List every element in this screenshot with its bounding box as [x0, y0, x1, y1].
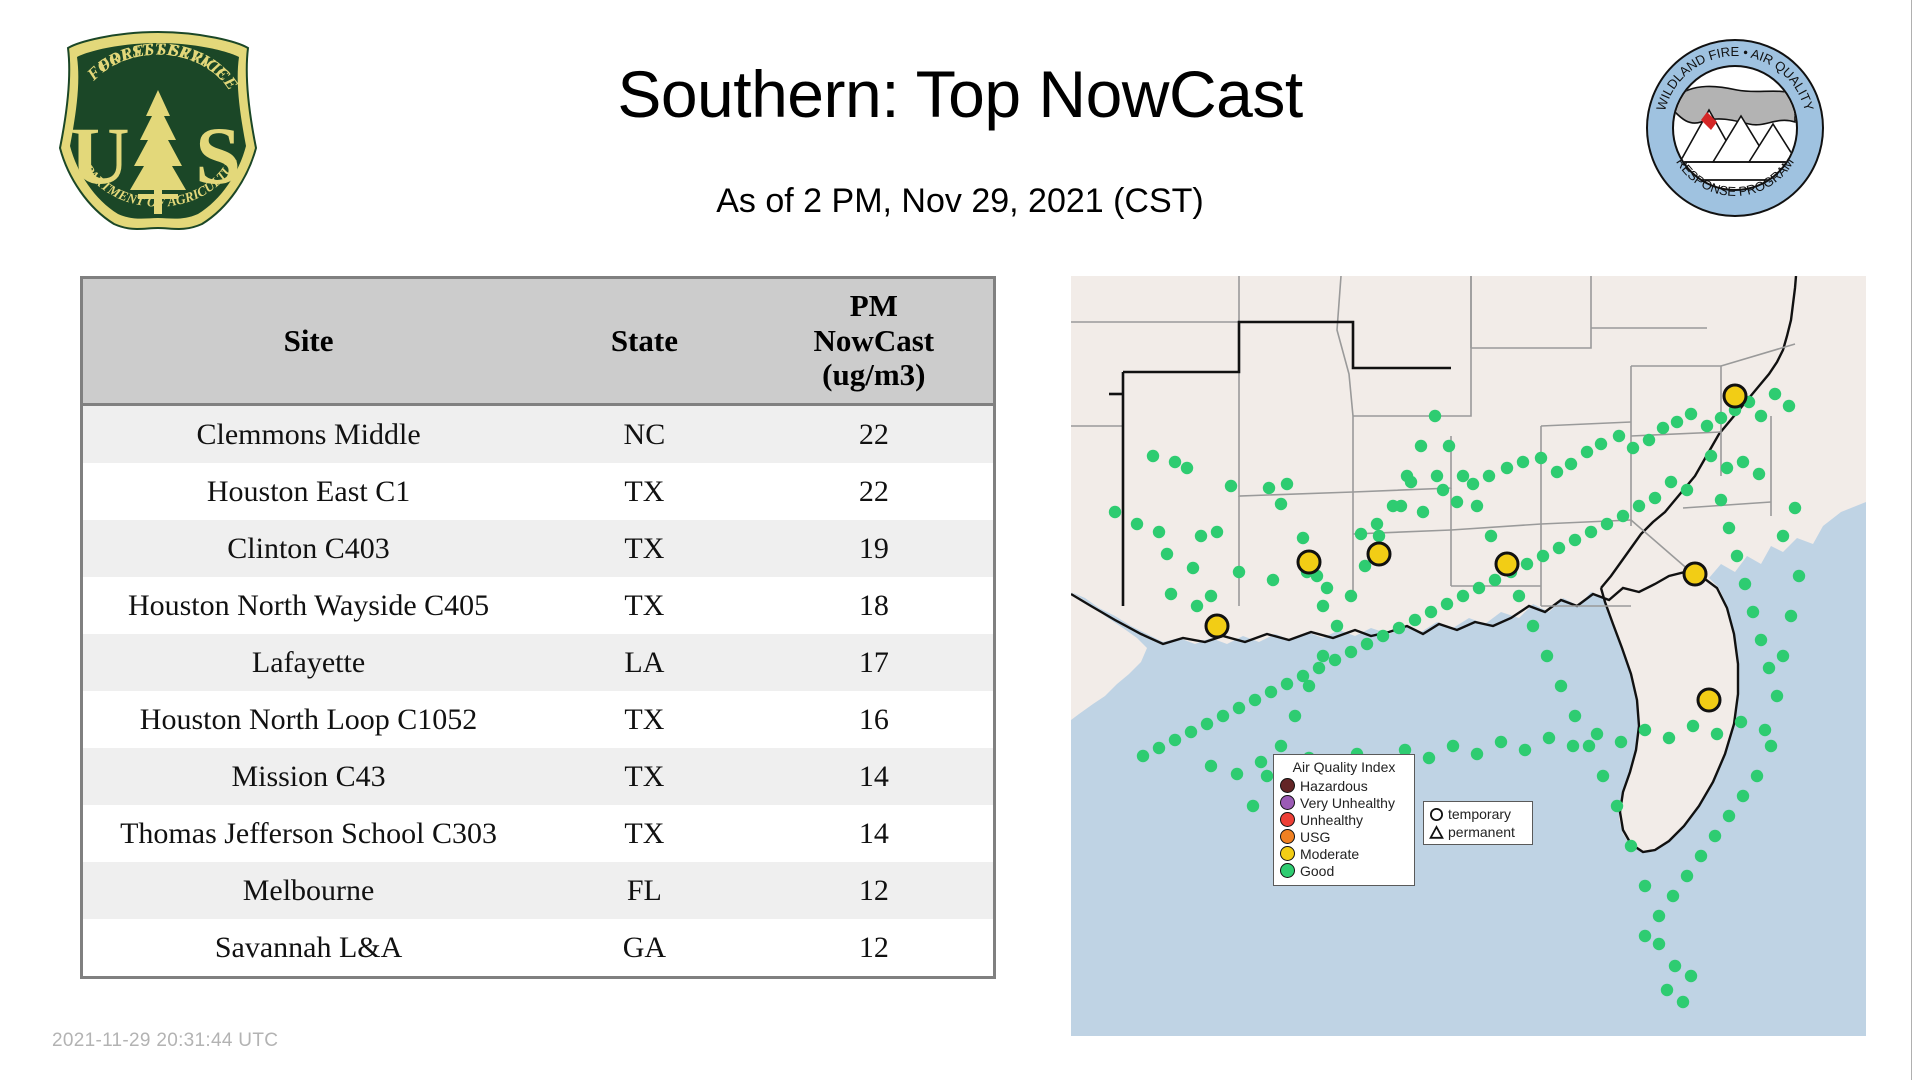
column-header-pm-line-1: PM — [759, 289, 989, 324]
monitor-dot-good[interactable] — [1789, 502, 1801, 514]
site-cell: Clinton C403 — [83, 520, 534, 577]
monitor-dot-good[interactable] — [1169, 456, 1181, 468]
monitor-dot-good[interactable] — [1231, 768, 1243, 780]
monitor-dot-good[interactable] — [1329, 654, 1341, 666]
monitor-dot-good[interactable] — [1613, 430, 1625, 442]
state-cell: LA — [534, 634, 755, 691]
monitor-dot-good[interactable] — [1513, 590, 1525, 602]
legend-air-quality-index: Air Quality Index HazardousVery Unhealth… — [1273, 754, 1415, 886]
column-header-pm-line-2: NowCast — [759, 324, 989, 359]
monitor-dot-good[interactable] — [1657, 422, 1669, 434]
legend-item-unhealthy: Unhealthy — [1280, 811, 1408, 828]
site-cell: Mission C43 — [83, 748, 534, 805]
monitor-dot-good[interactable] — [1667, 890, 1679, 902]
monitor-dot-good[interactable] — [1201, 718, 1213, 730]
monitor-dot-good[interactable] — [1425, 606, 1437, 618]
monitor-dot-good[interactable] — [1265, 686, 1277, 698]
table-row: Houston East C1TX22 — [83, 463, 993, 520]
monitor-dot-good[interactable] — [1715, 494, 1727, 506]
aqi-color-swatch-icon — [1280, 829, 1295, 844]
monitor-dot-good[interactable] — [1765, 740, 1777, 752]
monitor-dot-good[interactable] — [1137, 750, 1149, 762]
pm-nowcast-cell: 22 — [755, 405, 993, 464]
top-nowcast-table: Site State PM NowCast (ug/m3) Clemmons M… — [83, 279, 993, 976]
monitor-dot-good[interactable] — [1751, 770, 1763, 782]
monitor-dot-moderate[interactable] — [1368, 543, 1390, 565]
monitor-dot-good[interactable] — [1701, 420, 1713, 432]
pm-nowcast-cell: 17 — [755, 634, 993, 691]
table-body: Clemmons MiddleNC22Houston East C1TX22Cl… — [83, 405, 993, 977]
site-cell: Houston North Loop C1052 — [83, 691, 534, 748]
monitor-dot-good[interactable] — [1297, 532, 1309, 544]
site-cell: Lafayette — [83, 634, 534, 691]
monitor-dot-good[interactable] — [1643, 434, 1655, 446]
table-row: Houston North Loop C1052TX16 — [83, 691, 993, 748]
table-row: Thomas Jefferson School C303TX14 — [83, 805, 993, 862]
monitor-dot-good[interactable] — [1517, 456, 1529, 468]
monitor-dot-good[interactable] — [1665, 476, 1677, 488]
map-canvas — [1071, 276, 1866, 1036]
monitor-dot-good[interactable] — [1615, 736, 1627, 748]
usda-forest-service-logo: FOREST SERVICE FOREST SERVICE DEPARTMENT… — [52, 28, 264, 233]
monitor-dot-good[interactable] — [1443, 440, 1455, 452]
monitor-dot-good[interactable] — [1205, 590, 1217, 602]
legend-item-good: Good — [1280, 862, 1408, 879]
monitor-dot-good[interactable] — [1371, 518, 1383, 530]
monitor-dot-good[interactable] — [1313, 662, 1325, 674]
pm-nowcast-cell: 12 — [755, 862, 993, 919]
site-cell: Houston East C1 — [83, 463, 534, 520]
monitor-dot-good[interactable] — [1639, 880, 1651, 892]
table-row: LafayetteLA17 — [83, 634, 993, 691]
monitor-dot-good[interactable] — [1457, 470, 1469, 482]
aqi-color-swatch-icon — [1280, 846, 1295, 861]
monitor-dot-moderate[interactable] — [1684, 563, 1706, 585]
monitor-dot-good[interactable] — [1289, 710, 1301, 722]
legend-item-usg: USG — [1280, 828, 1408, 845]
monitor-dot-good[interactable] — [1153, 742, 1165, 754]
monitor-dot-good[interactable] — [1653, 910, 1665, 922]
monitor-dot-good[interactable] — [1541, 650, 1553, 662]
monitor-dot-good[interactable] — [1591, 728, 1603, 740]
monitor-dot-good[interactable] — [1755, 634, 1767, 646]
monitor-dot-good[interactable] — [1255, 756, 1267, 768]
monitor-dot-good[interactable] — [1669, 960, 1681, 972]
monitor-dot-good[interactable] — [1153, 526, 1165, 538]
monitor-dot-good[interactable] — [1401, 470, 1413, 482]
monitor-dot-good[interactable] — [1161, 548, 1173, 560]
monitor-dot-good[interactable] — [1345, 646, 1357, 658]
monitor-dot-good[interactable] — [1233, 566, 1245, 578]
monitor-dot-good[interactable] — [1393, 622, 1405, 634]
monitor-dot-good[interactable] — [1663, 732, 1675, 744]
monitor-dot-good[interactable] — [1793, 570, 1805, 582]
site-cell: Savannah L&A — [83, 919, 534, 976]
circle-icon — [1429, 807, 1444, 822]
monitor-dot-good[interactable] — [1777, 650, 1789, 662]
monitor-dot-good[interactable] — [1555, 680, 1567, 692]
table-header: Site State PM NowCast (ug/m3) — [83, 279, 993, 405]
state-cell: TX — [534, 463, 755, 520]
monitor-dot-good[interactable] — [1275, 498, 1287, 510]
monitor-dot-good[interactable] — [1281, 478, 1293, 490]
monitor-dot-good[interactable] — [1451, 496, 1463, 508]
monitor-dot-good[interactable] — [1303, 680, 1315, 692]
site-cell: Thomas Jefferson School C303 — [83, 805, 534, 862]
state-cell: TX — [534, 577, 755, 634]
monitor-dot-good[interactable] — [1681, 870, 1693, 882]
monitor-dot-good[interactable] — [1181, 462, 1193, 474]
monitor-dot-good[interactable] — [1569, 710, 1581, 722]
legend-item-label: Unhealthy — [1300, 813, 1363, 827]
monitor-dot-good[interactable] — [1495, 736, 1507, 748]
pm-nowcast-cell: 22 — [755, 463, 993, 520]
monitor-dot-moderate[interactable] — [1698, 689, 1720, 711]
monitor-dot-good[interactable] — [1321, 582, 1333, 594]
monitor-dot-good[interactable] — [1345, 590, 1357, 602]
monitor-dot-good[interactable] — [1437, 484, 1449, 496]
aqi-color-swatch-icon — [1280, 778, 1295, 793]
monitor-dot-good[interactable] — [1649, 492, 1661, 504]
legend-item-very-unhealthy: Very Unhealthy — [1280, 794, 1408, 811]
monitor-dot-good[interactable] — [1581, 446, 1593, 458]
site-cell: Houston North Wayside C405 — [83, 577, 534, 634]
monitor-dot-good[interactable] — [1661, 984, 1673, 996]
monitor-dot-good[interactable] — [1723, 810, 1735, 822]
monitor-dot-good[interactable] — [1331, 620, 1343, 632]
monitor-dot-good[interactable] — [1677, 996, 1689, 1008]
column-header-pm-line-3: (ug/m3) — [759, 358, 989, 393]
monitor-dot-good[interactable] — [1685, 970, 1697, 982]
monitor-dot-good[interactable] — [1521, 558, 1533, 570]
monitor-dot-good[interactable] — [1527, 620, 1539, 632]
monitor-dot-good[interactable] — [1535, 452, 1547, 464]
monitor-dot-good[interactable] — [1415, 440, 1427, 452]
pm-nowcast-cell: 19 — [755, 520, 993, 577]
aqi-color-swatch-icon — [1280, 795, 1295, 810]
monitor-dot-good[interactable] — [1205, 760, 1217, 772]
monitor-dot-good[interactable] — [1747, 606, 1759, 618]
monitor-dot-good[interactable] — [1169, 734, 1181, 746]
page-subtitle: As of 2 PM, Nov 29, 2021 (CST) — [360, 182, 1560, 221]
table-header-row: Site State PM NowCast (ug/m3) — [83, 279, 993, 405]
triangle-icon — [1429, 825, 1444, 840]
legend-item-label: Hazardous — [1300, 779, 1368, 793]
monitor-dot-good[interactable] — [1377, 630, 1389, 642]
monitor-map[interactable]: Air Quality Index HazardousVery Unhealth… — [1071, 276, 1866, 1036]
monitor-dot-good[interactable] — [1639, 930, 1651, 942]
monitor-dot-good[interactable] — [1225, 480, 1237, 492]
monitor-dot-good[interactable] — [1267, 574, 1279, 586]
state-cell: TX — [534, 748, 755, 805]
legend-item-label: Good — [1300, 864, 1334, 878]
monitor-dot-good[interactable] — [1753, 468, 1765, 480]
monitor-dot-good[interactable] — [1429, 410, 1441, 422]
state-cell: TX — [534, 520, 755, 577]
monitor-dot-good[interactable] — [1617, 510, 1629, 522]
legend-item-temporary: temporary — [1429, 805, 1527, 823]
monitor-dot-good[interactable] — [1597, 770, 1609, 782]
monitor-dot-good[interactable] — [1785, 610, 1797, 622]
monitor-dot-good[interactable] — [1763, 662, 1775, 674]
state-cell: TX — [534, 691, 755, 748]
site-cell: Melbourne — [83, 862, 534, 919]
monitor-dot-moderate[interactable] — [1724, 385, 1746, 407]
monitor-dot-good[interactable] — [1261, 770, 1273, 782]
monitor-dot-good[interactable] — [1721, 462, 1733, 474]
table-row: Clemmons MiddleNC22 — [83, 405, 993, 464]
monitor-dot-good[interactable] — [1715, 412, 1727, 424]
monitor-dot-good[interactable] — [1595, 438, 1607, 450]
monitor-dot-good[interactable] — [1543, 732, 1555, 744]
monitor-dot-good[interactable] — [1685, 408, 1697, 420]
aqi-color-swatch-icon — [1280, 863, 1295, 878]
table-row: MelbourneFL12 — [83, 862, 993, 919]
monitor-dot-good[interactable] — [1501, 462, 1513, 474]
pm-nowcast-cell: 16 — [755, 691, 993, 748]
monitor-dot-good[interactable] — [1601, 518, 1613, 530]
monitor-dot-good[interactable] — [1771, 690, 1783, 702]
table-row: Savannah L&AGA12 — [83, 919, 993, 976]
svg-text:U: U — [70, 110, 129, 201]
monitor-dot-good[interactable] — [1373, 530, 1385, 542]
monitor-dot-good[interactable] — [1217, 710, 1229, 722]
column-header-state: State — [534, 279, 755, 405]
pm-nowcast-cell: 18 — [755, 577, 993, 634]
column-header-pm-nowcast: PM NowCast (ug/m3) — [755, 279, 993, 405]
legend-item-permanent: permanent — [1429, 823, 1527, 841]
monitor-dot-good[interactable] — [1769, 388, 1781, 400]
monitor-dot-good[interactable] — [1473, 582, 1485, 594]
pm-nowcast-cell: 14 — [755, 748, 993, 805]
svg-text:S: S — [195, 110, 241, 201]
monitor-dot-good[interactable] — [1281, 678, 1293, 690]
monitor-dot-good[interactable] — [1447, 740, 1459, 752]
monitor-dot-good[interactable] — [1191, 600, 1203, 612]
monitor-dot-good[interactable] — [1431, 470, 1443, 482]
monitor-dot-good[interactable] — [1471, 748, 1483, 760]
monitor-dot-good[interactable] — [1709, 830, 1721, 842]
site-cell: Clemmons Middle — [83, 405, 534, 464]
monitor-dot-good[interactable] — [1211, 526, 1223, 538]
monitor-dot-good[interactable] — [1519, 744, 1531, 756]
monitor-dot-good[interactable] — [1263, 482, 1275, 494]
state-cell: FL — [534, 862, 755, 919]
monitor-dot-good[interactable] — [1471, 500, 1483, 512]
pm-nowcast-cell: 12 — [755, 919, 993, 976]
pm-nowcast-cell: 14 — [755, 805, 993, 862]
state-cell: GA — [534, 919, 755, 976]
monitor-dot-good[interactable] — [1249, 694, 1261, 706]
monitor-dot-good[interactable] — [1441, 598, 1453, 610]
legend-title: Air Quality Index — [1280, 759, 1408, 775]
monitor-dot-good[interactable] — [1731, 550, 1743, 562]
monitor-dot-good[interactable] — [1737, 456, 1749, 468]
monitor-dot-good[interactable] — [1147, 450, 1159, 462]
monitor-dot-good[interactable] — [1705, 450, 1717, 462]
top-nowcast-table-container: Site State PM NowCast (ug/m3) Clemmons M… — [80, 276, 996, 979]
monitor-dot-good[interactable] — [1585, 526, 1597, 538]
state-cell: NC — [534, 405, 755, 464]
monitor-dot-good[interactable] — [1737, 790, 1749, 802]
table-row: Houston North Wayside C405TX18 — [83, 577, 993, 634]
monitor-dot-good[interactable] — [1565, 458, 1577, 470]
monitor-dot-good[interactable] — [1653, 938, 1665, 950]
monitor-dot-good[interactable] — [1417, 506, 1429, 518]
monitor-dot-good[interactable] — [1687, 720, 1699, 732]
legend-item-label: Moderate — [1300, 847, 1359, 861]
monitor-dot-good[interactable] — [1275, 740, 1287, 752]
monitor-dot-good[interactable] — [1625, 840, 1637, 852]
monitor-dot-good[interactable] — [1569, 534, 1581, 546]
monitor-dot-good[interactable] — [1723, 522, 1735, 534]
monitor-dot-good[interactable] — [1739, 578, 1751, 590]
monitor-dot-good[interactable] — [1131, 518, 1143, 530]
monitor-dot-moderate[interactable] — [1496, 553, 1518, 575]
page-right-border — [1911, 0, 1912, 1080]
monitor-dot-good[interactable] — [1583, 740, 1595, 752]
monitor-dot-good[interactable] — [1423, 752, 1435, 764]
monitor-dot-good[interactable] — [1553, 542, 1565, 554]
monitor-dot-good[interactable] — [1783, 400, 1795, 412]
monitor-dot-good[interactable] — [1483, 470, 1495, 482]
monitor-dot-good[interactable] — [1317, 650, 1329, 662]
monitor-dot-good[interactable] — [1485, 530, 1497, 542]
monitor-dot-good[interactable] — [1551, 466, 1563, 478]
monitor-dot-good[interactable] — [1537, 550, 1549, 562]
monitor-dot-good[interactable] — [1387, 500, 1399, 512]
monitor-dot-good[interactable] — [1457, 590, 1469, 602]
monitor-dot-good[interactable] — [1361, 638, 1373, 650]
legend-item-hazardous: Hazardous — [1280, 777, 1408, 794]
monitor-dot-good[interactable] — [1777, 530, 1789, 542]
monitor-dot-good[interactable] — [1639, 724, 1651, 736]
monitor-dot-good[interactable] — [1195, 530, 1207, 542]
monitor-dot-good[interactable] — [1611, 800, 1623, 812]
monitor-dot-good[interactable] — [1711, 728, 1723, 740]
legend-items: HazardousVery UnhealthyUnhealthyUSGModer… — [1280, 777, 1408, 879]
table-row: Clinton C403TX19 — [83, 520, 993, 577]
monitor-dot-good[interactable] — [1671, 416, 1683, 428]
monitor-dot-moderate[interactable] — [1206, 615, 1228, 637]
monitor-dot-good[interactable] — [1233, 702, 1245, 714]
wildland-fire-air-quality-logo: WILDLAND FIRE • AIR QUALITY RESPONSE PRO… — [1645, 38, 1825, 218]
monitor-dot-good[interactable] — [1409, 614, 1421, 626]
monitor-dot-good[interactable] — [1489, 574, 1501, 586]
monitor-dot-good[interactable] — [1109, 506, 1121, 518]
monitor-dot-good[interactable] — [1467, 478, 1479, 490]
monitor-dot-good[interactable] — [1681, 484, 1693, 496]
legend-monitor-type: temporary permanent — [1423, 801, 1533, 845]
monitor-dot-moderate[interactable] — [1298, 551, 1320, 573]
monitor-dot-good[interactable] — [1627, 442, 1639, 454]
monitor-dot-good[interactable] — [1247, 800, 1259, 812]
monitor-dot-good[interactable] — [1633, 500, 1645, 512]
table-row: Mission C43TX14 — [83, 748, 993, 805]
legend-item-moderate: Moderate — [1280, 845, 1408, 862]
aqi-color-swatch-icon — [1280, 812, 1295, 827]
monitor-dot-good[interactable] — [1317, 600, 1329, 612]
column-header-site: Site — [83, 279, 534, 405]
monitor-dot-good[interactable] — [1695, 850, 1707, 862]
monitor-dot-good[interactable] — [1759, 724, 1771, 736]
monitor-dot-good[interactable] — [1185, 726, 1197, 738]
page-title: Southern: Top NowCast — [360, 60, 1560, 129]
legend-label-temporary: temporary — [1448, 807, 1511, 821]
monitor-dot-good[interactable] — [1735, 716, 1747, 728]
state-cell: TX — [534, 805, 755, 862]
footer-timestamp: 2021-11-29 20:31:44 UTC — [52, 1030, 278, 1052]
monitor-dot-good[interactable] — [1567, 740, 1579, 752]
legend-label-permanent: permanent — [1448, 825, 1515, 839]
monitor-dot-good[interactable] — [1165, 588, 1177, 600]
legend-item-label: Very Unhealthy — [1300, 796, 1395, 810]
monitor-dot-good[interactable] — [1187, 562, 1199, 574]
legend-item-label: USG — [1300, 830, 1330, 844]
monitor-dot-good[interactable] — [1355, 528, 1367, 540]
monitor-dot-good[interactable] — [1755, 410, 1767, 422]
